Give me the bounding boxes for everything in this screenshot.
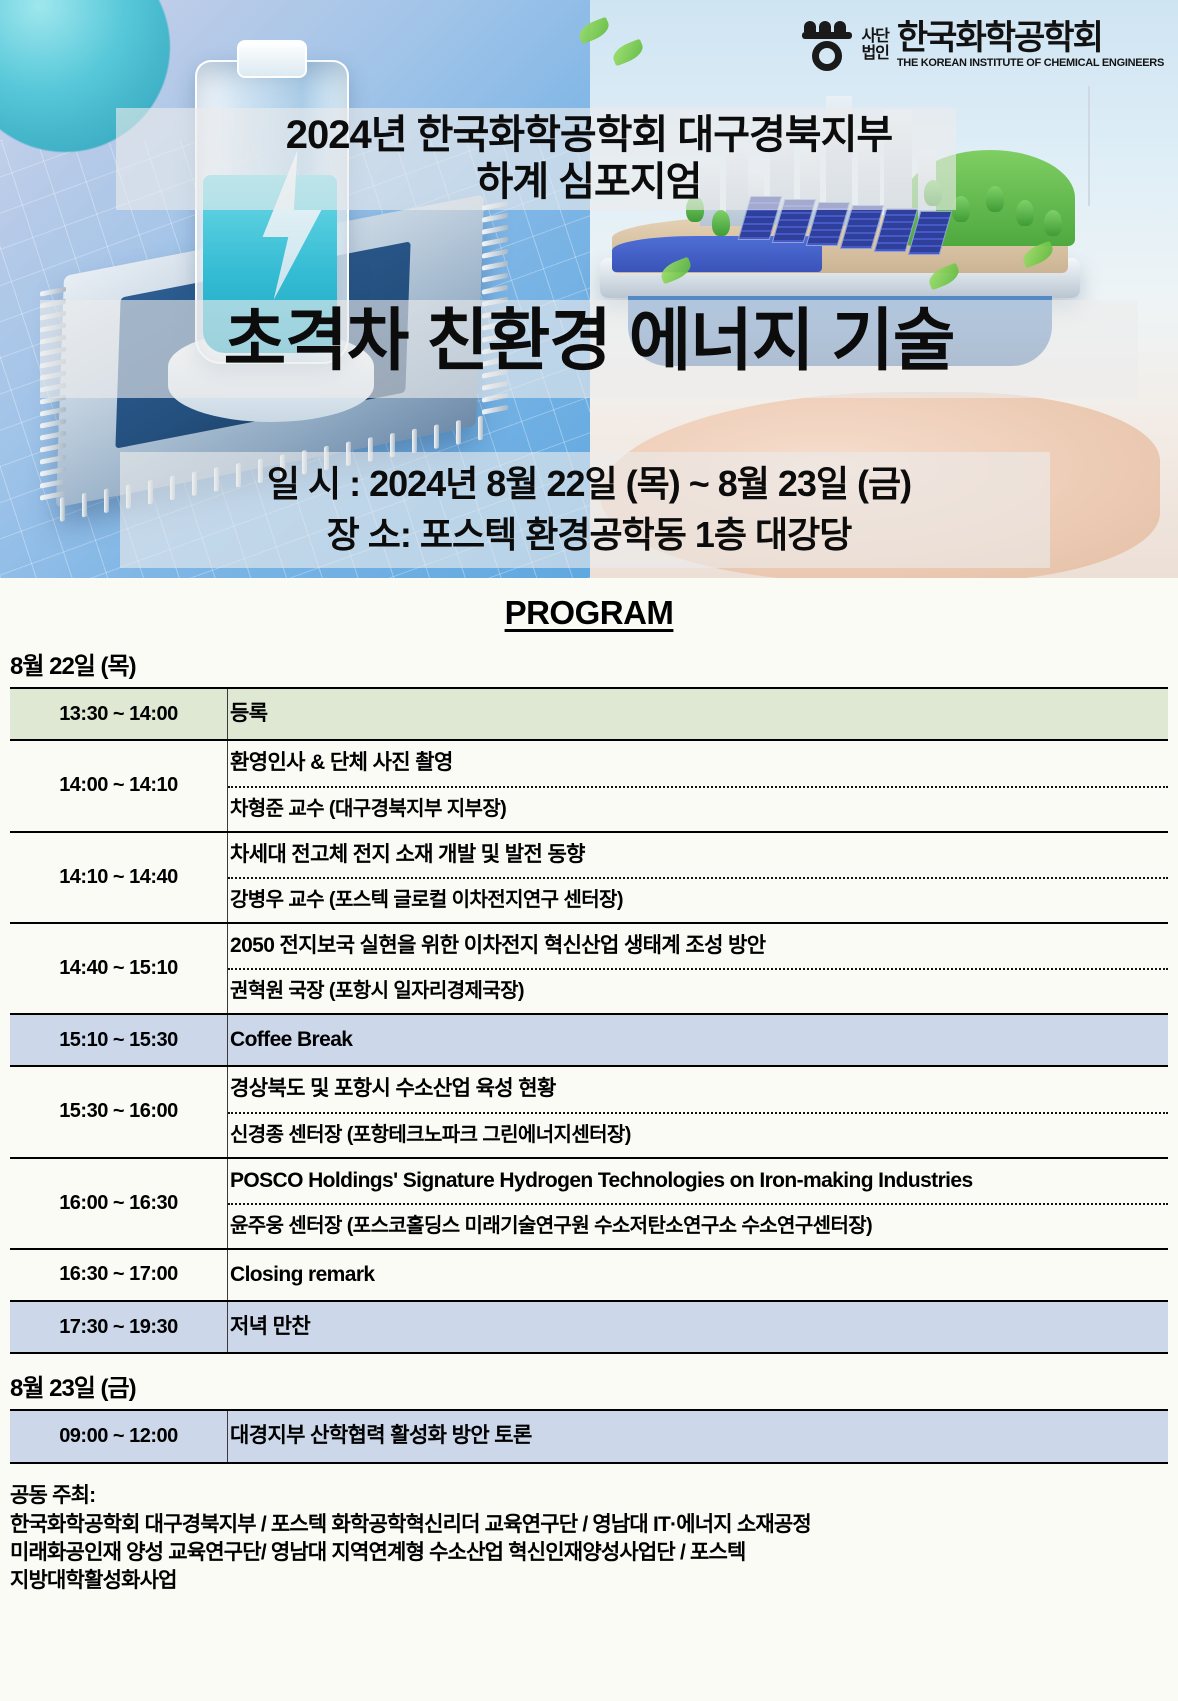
session-content: POSCO Holdings' Signature Hydrogen Techn… <box>228 1158 1169 1249</box>
event-title-line2: 하계 심포지엄 <box>0 159 1178 206</box>
battery-cap <box>237 40 307 78</box>
session-title: 경상북도 및 포항시 수소산업 육성 현황 <box>228 1067 1168 1111</box>
session-time: 16:00 ~ 16:30 <box>10 1158 228 1249</box>
table-row: 14:00 ~ 14:10환영인사 & 단체 사진 촬영차형준 교수 (대구경북… <box>10 740 1168 831</box>
session-time: 14:00 ~ 14:10 <box>10 740 228 831</box>
session-speaker: 권혁원 국장 (포항시 일자리경제국장) <box>228 968 1168 1013</box>
session-title: 등록 <box>228 689 1168 739</box>
session-time: 15:10 ~ 15:30 <box>10 1014 228 1066</box>
session-time: 09:00 ~ 12:00 <box>10 1410 228 1462</box>
logo-english-name: THE KOREAN INSTITUTE OF CHEMICAL ENGINEE… <box>897 57 1164 69</box>
session-time: 14:40 ~ 15:10 <box>10 923 228 1014</box>
logo-sadan-line1: 사단 <box>861 28 888 45</box>
session-title: 대경지부 산학협력 활성화 방안 토론 <box>228 1411 1168 1461</box>
co-host-line: 지방대학활성화사업 <box>10 1567 1178 1595</box>
table-row: 09:00 ~ 12:00대경지부 산학협력 활성화 방안 토론 <box>10 1410 1168 1462</box>
session-title: 환영인사 & 단체 사진 촬영 <box>228 741 1168 785</box>
session-content: 저녁 만찬 <box>228 1301 1169 1353</box>
logo-sadan-line2: 법인 <box>861 45 888 62</box>
program-section: PROGRAM 8월 22일 (목)13:30 ~ 14:00등록14:00 ~… <box>0 578 1178 1594</box>
session-speaker: 차형준 교수 (대구경북지부 지부장) <box>228 786 1168 831</box>
event-date: 일 시 : 2024년 8월 22일 (목) ~ 8월 23일 (금) <box>0 458 1178 509</box>
poster-hero-banner: 사단 법인 한국화학공학회 THE KOREAN INSTITUTE OF CH… <box>0 0 1178 578</box>
session-time: 14:10 ~ 14:40 <box>10 832 228 923</box>
co-hosts-footer: 공동 주최: 한국화학공학회 대구경북지부 / 포스텍 화학공학혁신리더 교육연… <box>10 1482 1178 1595</box>
event-title: 2024년 한국화학공학회 대구경북지부 하계 심포지엄 <box>0 112 1178 206</box>
table-row: 14:40 ~ 15:102050 전지보국 실현을 위한 이차전지 혁신산업 … <box>10 923 1168 1014</box>
session-time: 15:30 ~ 16:00 <box>10 1066 228 1157</box>
co-hosts-list: 한국화학공학회 대구경북지부 / 포스텍 화학공학혁신리더 교육연구단 / 영남… <box>10 1511 1178 1594</box>
table-row: 16:00 ~ 16:30POSCO Holdings' Signature H… <box>10 1158 1168 1249</box>
session-content: 환영인사 & 단체 사진 촬영차형준 교수 (대구경북지부 지부장) <box>228 740 1169 831</box>
event-title-line1: 2024년 한국화학공학회 대구경북지부 <box>0 112 1178 159</box>
co-hosts-label: 공동 주최: <box>10 1482 1178 1510</box>
schedule-table: 09:00 ~ 12:00대경지부 산학협력 활성화 방안 토론 <box>10 1409 1168 1463</box>
session-content: 등록 <box>228 688 1169 740</box>
table-row: 15:10 ~ 15:30Coffee Break <box>10 1014 1168 1066</box>
session-content: Coffee Break <box>228 1014 1169 1066</box>
event-theme: 초격차 친환경 에너지 기술 <box>0 305 1178 378</box>
event-venue: 장 소: 포스텍 환경공학동 1층 대강당 <box>0 509 1178 560</box>
logo-korean-name: 한국화학공학회 <box>897 21 1164 55</box>
session-speaker: 신경종 센터장 (포항테크노파크 그린에너지센터장) <box>228 1112 1168 1157</box>
session-content: 2050 전지보국 실현을 위한 이차전지 혁신산업 생태계 조성 방안권혁원 … <box>228 923 1169 1014</box>
session-title: 저녁 만찬 <box>228 1302 1168 1352</box>
kiche-logo: 사단 법인 한국화학공학회 THE KOREAN INSTITUTE OF CH… <box>801 14 1164 76</box>
session-speaker: 윤주웅 센터장 (포스코홀딩스 미래기술연구원 수소저탄소연구소 수소연구센터장… <box>228 1203 1168 1248</box>
day-label: 8월 22일 (목) <box>10 646 1178 681</box>
co-host-line: 한국화학공학회 대구경북지부 / 포스텍 화학공학혁신리더 교육연구단 / 영남… <box>10 1511 1178 1539</box>
session-time: 17:30 ~ 19:30 <box>10 1301 228 1353</box>
table-row: 14:10 ~ 14:40차세대 전고체 전지 소재 개발 및 발전 동향강병우… <box>10 832 1168 923</box>
program-days: 8월 22일 (목)13:30 ~ 14:00등록14:00 ~ 14:10환영… <box>0 646 1178 1464</box>
schedule-table: 13:30 ~ 14:00등록14:00 ~ 14:10환영인사 & 단체 사진… <box>10 687 1168 1354</box>
table-row: 16:30 ~ 17:00Closing remark <box>10 1249 1168 1301</box>
day-label: 8월 23일 (금) <box>10 1368 1178 1403</box>
session-content: Closing remark <box>228 1249 1169 1301</box>
session-content: 경상북도 및 포항시 수소산업 육성 현황신경종 센터장 (포항테크노파크 그린… <box>228 1066 1169 1157</box>
kiche-logo-mark-icon <box>801 17 853 73</box>
table-row: 15:30 ~ 16:00경상북도 및 포항시 수소산업 육성 현황신경종 센터… <box>10 1066 1168 1157</box>
session-time: 13:30 ~ 14:00 <box>10 688 228 740</box>
session-title: POSCO Holdings' Signature Hydrogen Techn… <box>228 1159 1168 1203</box>
session-title: Coffee Break <box>228 1015 1168 1065</box>
session-time: 16:30 ~ 17:00 <box>10 1249 228 1301</box>
session-speaker: 강병우 교수 (포스텍 글로컬 이차전지연구 센터장) <box>228 877 1168 922</box>
table-row: 13:30 ~ 14:00등록 <box>10 688 1168 740</box>
session-title: 2050 전지보국 실현을 위한 이차전지 혁신산업 생태계 조성 방안 <box>228 924 1168 968</box>
session-title: 차세대 전고체 전지 소재 개발 및 발전 동향 <box>228 833 1168 877</box>
session-content: 대경지부 산학협력 활성화 방안 토론 <box>228 1410 1169 1462</box>
session-content: 차세대 전고체 전지 소재 개발 및 발전 동향강병우 교수 (포스텍 글로컬 … <box>228 832 1169 923</box>
program-heading: PROGRAM <box>0 594 1178 632</box>
co-host-line: 미래화공인재 양성 교육연구단/ 영남대 지역연계형 수소산업 혁신인재양성사업… <box>10 1539 1178 1567</box>
logo-corporation-label: 사단 법인 <box>861 28 888 63</box>
table-row: 17:30 ~ 19:30저녁 만찬 <box>10 1301 1168 1353</box>
event-info: 일 시 : 2024년 8월 22일 (목) ~ 8월 23일 (금) 장 소:… <box>0 458 1178 560</box>
session-title: Closing remark <box>228 1250 1168 1300</box>
